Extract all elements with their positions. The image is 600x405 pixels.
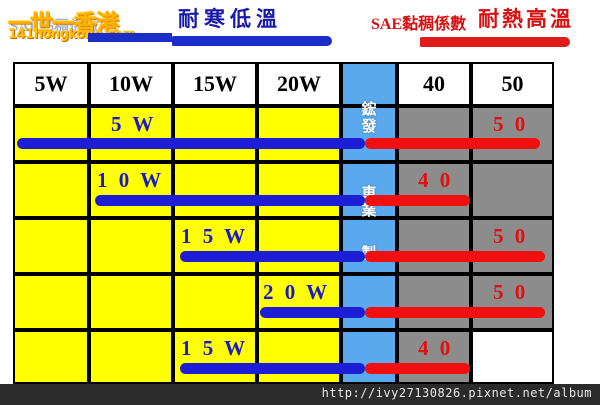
footer-bar: http://ivy27130826.pixnet.net/album [0, 384, 600, 405]
table-cell [89, 218, 173, 274]
table-cell-brand [341, 106, 397, 162]
sae-viscosity-label: SAE黏稠係數 [371, 10, 466, 34]
hot-grade-label: 4 0 [418, 336, 453, 361]
table-cell [397, 106, 471, 162]
table-cell [257, 218, 341, 274]
hot-range-bar [365, 363, 470, 374]
cold-range-bar [180, 363, 365, 374]
cold-grade-label: 1 5 W [181, 336, 248, 361]
table-cell [257, 162, 341, 218]
footer-url: http://ivy27130826.pixnet.net/album [322, 386, 592, 400]
table-cell [471, 330, 554, 384]
hot-grade-label: 5 0 [493, 112, 528, 137]
hot-arrow-bar [420, 37, 570, 47]
hot-grade-label: 5 0 [493, 280, 528, 305]
hot-range-bar [365, 195, 470, 206]
table-cell [13, 218, 89, 274]
table-cell [89, 274, 173, 330]
table-cell-brand [341, 330, 397, 384]
hot-range-bar [365, 251, 545, 262]
cold-range-bar [180, 251, 365, 262]
table-header-cell-15w: 15W [173, 62, 257, 106]
hot-grade-label: 5 0 [493, 224, 528, 249]
hot-range-bar [365, 307, 545, 318]
table-cell [13, 162, 89, 218]
table-cell [397, 274, 471, 330]
cold-grade-label: 1 5 W [181, 224, 248, 249]
table-cell-brand [341, 218, 397, 274]
table-cell [397, 218, 471, 274]
cold-range-bar [17, 138, 365, 149]
hot-grade-label: 4 0 [418, 168, 453, 193]
table-cell-brand [341, 274, 397, 330]
table-header-cell-10w: 10W [89, 62, 173, 106]
hot-range-bar [365, 138, 540, 149]
table-header-cell-brand [341, 62, 397, 106]
cold-range-bar [95, 195, 365, 206]
cold-grade-label: 1 0 W [97, 168, 164, 193]
cold-grade-label: 5 W [111, 112, 156, 137]
table-cell [173, 162, 257, 218]
cold-temperature-title: 耐寒低溫 [178, 3, 282, 33]
cold-range-bar [260, 307, 365, 318]
table-cell [13, 274, 89, 330]
table-header-cell-20w: 20W [257, 62, 341, 106]
cold-grade-label: 2 0 W [263, 280, 330, 305]
table-cell [13, 106, 89, 162]
table-cell [13, 330, 89, 384]
viscosity-chart-page: SAE黏稠係數 一世一香港 141hongkong.com 耐寒低溫 SAE黏稠… [0, 0, 600, 405]
table-cell [257, 106, 341, 162]
table-cell [173, 274, 257, 330]
table-header-cell-40: 40 [397, 62, 471, 106]
table-header-cell-50: 50 [471, 62, 554, 106]
page-header: SAE黏稠係數 一世一香港 141hongkong.com 耐寒低溫 SAE黏稠… [0, 0, 600, 56]
table-cell [471, 162, 554, 218]
table-cell [257, 330, 341, 384]
table-cell [173, 106, 257, 162]
table-header-cell-5w: 5W [13, 62, 89, 106]
watermark-underline [88, 33, 172, 42]
hot-temperature-title: 耐熱高溫 [478, 3, 574, 33]
cold-arrow-bar [172, 36, 332, 46]
table-cell-brand [341, 162, 397, 218]
viscosity-table: 5W 10W 15W 20W 40 50 [13, 62, 554, 384]
table-cell [89, 330, 173, 384]
